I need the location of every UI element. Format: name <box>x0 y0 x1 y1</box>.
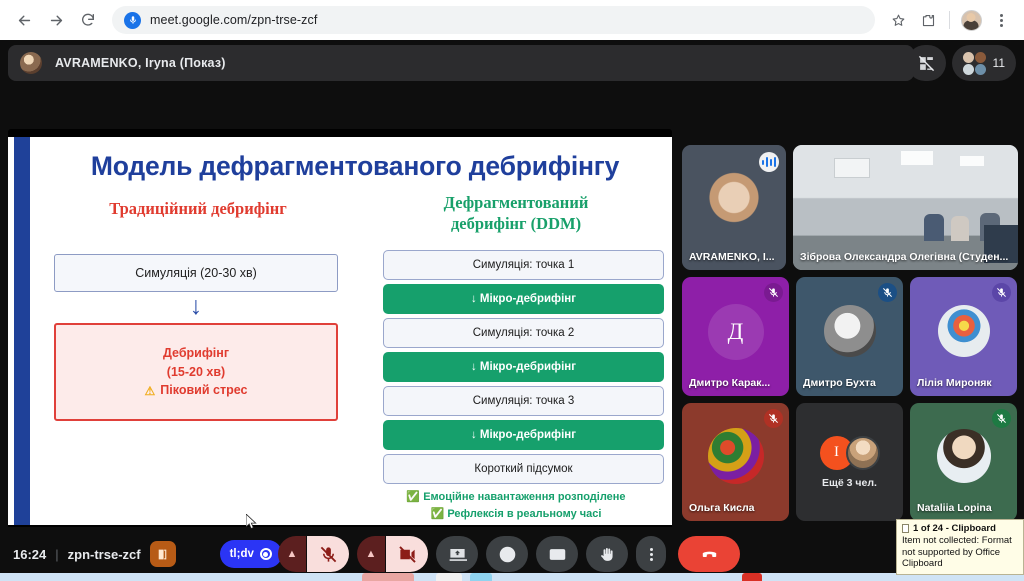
camera-control[interactable]: ▲ <box>357 536 428 572</box>
clipboard-icon <box>902 524 909 533</box>
video-off-icon[interactable] <box>386 536 428 572</box>
microphone-control[interactable]: ▲ <box>278 536 349 572</box>
overflow-label: Ещё 3 чел. <box>822 477 877 489</box>
kebab-menu-icon[interactable] <box>988 7 1014 33</box>
peak-stress-line: ⚠ Піковий стрес <box>145 382 248 399</box>
ddm-step: Симуляція: точка 2 <box>383 318 664 348</box>
down-arrow-icon: ↓ <box>54 294 338 319</box>
clipboard-title-row: 1 of 24 - Clipboard <box>902 523 1019 534</box>
back-arrow-icon[interactable] <box>10 6 38 34</box>
clipboard-message: Item not collected: Format not supported… <box>902 535 1019 570</box>
emoji-icon[interactable] <box>486 536 528 572</box>
browser-toolbar: meet.google.com/zpn-trse-zcf <box>0 0 1024 40</box>
tile-name: Лілія Мироняк <box>910 377 999 396</box>
mic-off-icon <box>878 283 897 302</box>
people-icon <box>963 52 986 75</box>
clock: 16:24 <box>13 547 46 562</box>
tile-overflow[interactable]: І Ещё 3 чел. <box>796 403 903 521</box>
overflow-avatars: І <box>820 436 880 470</box>
taskbar-item[interactable] <box>436 573 462 581</box>
header-actions: 11 <box>907 45 1016 81</box>
simulation-box: Симуляція (20-30 хв) <box>54 254 338 292</box>
ddm-step: ↓ Мікро-дебрифінг <box>383 420 664 450</box>
tile-name: Дмитро Бухта <box>796 377 883 396</box>
tile-row: AVRAMENKO, I... Зіброва Олександра Олегі… <box>682 145 1018 270</box>
right-heading-line2: дебрифінг (DDM) <box>366 213 666 234</box>
meeting-info: 16:24 | zpn-trse-zcf tl;dv <box>0 540 282 568</box>
tile-participant[interactable]: Дмитро Бухта <box>796 277 903 396</box>
taskbar-item[interactable] <box>470 573 492 581</box>
ddm-step: Короткий підсумок <box>383 454 664 484</box>
slide-accent-bar <box>14 137 30 525</box>
forward-arrow-icon[interactable] <box>42 6 70 34</box>
tile-classroom-video[interactable]: Зіброва Олександра Олегівна (Студен... <box>793 145 1018 270</box>
hand-icon[interactable] <box>586 536 628 572</box>
left-column-heading: Традиційний дебрифінг <box>48 199 348 219</box>
tile-participant[interactable]: Д Дмитро Карак... <box>682 277 789 396</box>
voice-search-icon[interactable] <box>124 12 141 29</box>
mic-off-icon <box>992 409 1011 428</box>
taskbar-item[interactable] <box>742 573 762 581</box>
participant-tiles: AVRAMENKO, I... Зіброва Олександра Олегі… <box>682 145 1018 528</box>
chevron-up-icon[interactable]: ▲ <box>357 536 385 572</box>
tile-participant[interactable]: Лілія Мироняк <box>910 277 1017 396</box>
avatar-initial: Д <box>708 304 764 360</box>
right-column-heading: Дефрагментований дебрифінг (DDM) <box>366 192 666 234</box>
clipboard-tooltip: 1 of 24 - Clipboard Item not collected: … <box>896 519 1024 575</box>
door-exit-icon[interactable] <box>150 541 176 567</box>
phone-hangup-icon <box>698 543 721 566</box>
benefit-item: ✅ Рефлексія в реальному часі <box>366 506 666 523</box>
participants-button[interactable]: 11 <box>952 45 1016 81</box>
participant-count: 11 <box>993 56 1005 70</box>
taskbar <box>0 573 1024 581</box>
address-bar[interactable]: meet.google.com/zpn-trse-zcf <box>112 6 875 34</box>
present-icon[interactable] <box>436 536 478 572</box>
speaking-indicator-icon <box>759 152 779 172</box>
presenter-name: AVRAMENKO, Iryna (Показ) <box>55 56 226 70</box>
benefit-label: Рефлексія в реальному часі <box>447 508 601 520</box>
benefit-list: ✅ Емоційне навантаження розподілене ✅ Ре… <box>366 489 666 522</box>
url-text: meet.google.com/zpn-trse-zcf <box>150 13 317 27</box>
clipboard-title: 1 of 24 - Clipboard <box>913 523 996 534</box>
tile-participant[interactable]: Nataliia Lopina <box>910 403 1017 521</box>
tile-name: Ольга Кисла <box>682 502 762 521</box>
end-call-button[interactable] <box>678 536 740 572</box>
star-icon[interactable] <box>885 7 911 33</box>
tile-row: Д Дмитро Карак... Дмитро Бухта Лілія Мир… <box>682 277 1018 396</box>
slide-title: Модель дефрагментованого дебрифінгу <box>48 151 662 182</box>
taskbar-item[interactable] <box>362 573 414 581</box>
debriefing-box: Дебрифінг (15-20 хв) ⚠ Піковий стрес <box>54 323 338 421</box>
avatar <box>938 305 990 357</box>
check-icon: ✅ <box>431 508 445 520</box>
mic-off-icon <box>764 409 783 428</box>
puzzle-icon[interactable] <box>915 7 941 33</box>
mic-off-icon[interactable] <box>307 536 349 572</box>
check-icon: ✅ <box>406 491 420 503</box>
avatar <box>937 429 991 483</box>
warning-icon: ⚠ <box>145 383 156 399</box>
tile-self-video[interactable]: AVRAMENKO, I... <box>682 145 786 270</box>
reload-icon[interactable] <box>74 6 102 34</box>
avatar <box>20 52 42 74</box>
tile-name: Дмитро Карак... <box>682 377 777 396</box>
avatar <box>708 428 764 484</box>
avatar <box>824 305 876 357</box>
meeting-code[interactable]: zpn-trse-zcf <box>68 547 141 562</box>
ddm-step: Симуляція: точка 1 <box>383 250 664 280</box>
avatar <box>846 436 880 470</box>
google-meet-app: AVRAMENKO, Iryna (Показ) 11 Модель дефра… <box>0 40 1024 581</box>
benefit-label: Емоційне навантаження розподілене <box>423 491 625 503</box>
captions-icon[interactable] <box>536 536 578 572</box>
tile-row: Ольга Кисла І Ещё 3 чел. Nataliia Lopina <box>682 403 1018 521</box>
debrief-line-3: Піковий стрес <box>160 382 247 399</box>
toolbar-divider <box>949 11 950 29</box>
profile-avatar[interactable] <box>958 7 984 33</box>
tile-participant[interactable]: Ольга Кисла <box>682 403 789 521</box>
presentation-slide: Модель дефрагментованого дебрифінгу Трад… <box>8 137 672 525</box>
ddm-step: ↓ Мікро-дебрифінг <box>383 284 664 314</box>
mic-off-icon <box>992 283 1011 302</box>
chevron-up-icon[interactable]: ▲ <box>278 536 306 572</box>
mouse-cursor <box>246 514 258 530</box>
tile-name: Зіброва Олександра Олегівна (Студен... <box>793 251 1015 270</box>
presenter-banner[interactable]: AVRAMENKO, Iryna (Показ) <box>8 45 914 81</box>
shared-screen[interactable]: Модель дефрагментованого дебрифінгу Трад… <box>8 129 672 533</box>
tldv-recording-pill[interactable]: tl;dv <box>220 540 282 568</box>
separator: | <box>55 547 58 562</box>
kebab-menu-icon[interactable] <box>636 536 666 572</box>
grid-off-icon[interactable] <box>907 45 946 81</box>
benefit-item: ✅ Емоційне навантаження розподілене <box>366 489 666 506</box>
tldv-label: tl;dv <box>230 548 254 560</box>
debrief-line-2: (15-20 хв) <box>167 364 225 381</box>
ddm-step: Симуляція: точка 3 <box>383 386 664 416</box>
right-heading-line1: Дефрагментований <box>366 192 666 213</box>
record-dot-icon <box>260 548 272 560</box>
tile-name: AVRAMENKO, I... <box>682 251 782 270</box>
debrief-line-1: Дебрифінг <box>163 345 229 362</box>
ddm-step: ↓ Мікро-дебрифінг <box>383 352 664 382</box>
call-controls: ▲ ▲ <box>278 536 740 572</box>
mic-off-icon <box>764 283 783 302</box>
